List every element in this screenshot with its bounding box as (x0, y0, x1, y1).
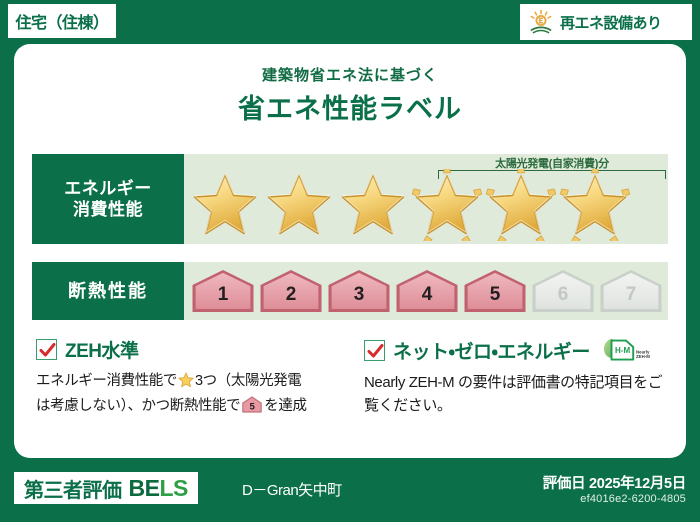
bels-wordmark-part1: BE (129, 475, 160, 501)
insulation-label-text: 断熱性能 (68, 280, 148, 303)
insulation-performance-row: 断熱性能 1234567 (32, 262, 668, 320)
insulation-level-number: 4 (394, 267, 460, 315)
house-type-label: 住宅（住棟） (15, 9, 108, 33)
criterion-zeh-head: ZEH水準 (36, 336, 328, 363)
footer-band: 第三者評価 BELS D－Gran矢中町 評価日 2025年12月5日 ef40… (0, 464, 700, 522)
star-icon-solar (484, 169, 558, 241)
criteria-section: ZEH水準 エネルギー消費性能で 3つ（太陽光発電 は考慮しない）、かつ断熱性能… (14, 336, 686, 422)
star-rating (184, 168, 668, 242)
zeh-desc-part2: 3つ（太陽光発電 (195, 373, 301, 389)
zeh-desc-part4: を達成 (264, 398, 306, 414)
energy-label-line2: 消費性能 (73, 199, 143, 220)
energy-performance-label: 住宅（住棟） 再エネ設備あり (0, 0, 700, 522)
insulation-level-badge: 5 (462, 267, 528, 315)
nearly-zeh-m-logo-icon: H-M Nearly ZEH-M (600, 336, 654, 364)
zeh-title: ZEH水準 (65, 336, 139, 363)
star-icon-solar (558, 169, 632, 241)
insulation-level-badge: 3 (326, 267, 392, 315)
insulation-level-badge: 2 (258, 267, 324, 315)
zeh-desc-part3: は考慮しない）、かつ断熱性能で (36, 398, 240, 414)
insulation-level-badge: 6 (530, 267, 596, 315)
inline-star-icon (178, 372, 194, 395)
energy-performance-body: 太陽光発電(自家消費)分 (184, 154, 668, 244)
insulation-level-badge: 1 (190, 267, 256, 315)
insulation-level-number: 6 (530, 267, 596, 315)
energy-performance-row: エネルギー 消費性能 太陽光発電(自家消費)分 (32, 154, 668, 244)
bels-wordmark: BELS (129, 475, 188, 502)
label-card: 建築物省エネ法に基づく 省エネ性能ラベル エネルギー 消費性能 太陽光発電(自家… (14, 44, 686, 458)
inline-level-badge: 5 (241, 395, 263, 421)
label-subtitle: 建築物省エネ法に基づく (14, 64, 686, 85)
zeh-description: エネルギー消費性能で 3つ（太陽光発電 は考慮しない）、かつ断熱性能で 5 を達… (36, 370, 328, 422)
nzeb-description: Nearly ZEH-M の要件は評価書の特記項目をご覧ください。 (364, 371, 664, 418)
zeh-check-icon (36, 339, 57, 360)
insulation-level-badge: 4 (394, 267, 460, 315)
zeh-desc-part1: エネルギー消費性能で (36, 373, 177, 389)
criterion-zeh: ZEH水準 エネルギー消費性能で 3つ（太陽光発電 は考慮しない）、かつ断熱性能… (14, 336, 350, 422)
star-icon (336, 169, 410, 241)
star-icon-solar (410, 169, 484, 241)
insulation-level-number: 3 (326, 267, 392, 315)
energy-label-line1: エネルギー (64, 178, 152, 199)
evaluation-id: ef4016e2-6200-4805 (580, 493, 686, 505)
bels-certification-chip: 第三者評価 BELS (14, 472, 198, 504)
insulation-performance-body: 1234567 (184, 262, 668, 320)
renewable-badge-label: 再エネ設備あり (560, 12, 662, 33)
svg-text:H-M: H-M (615, 346, 630, 355)
renewable-equipment-badge: 再エネ設備あり (520, 4, 692, 40)
star-icon (262, 169, 336, 241)
criterion-net-zero-energy: ネット・ゼロ・エネルギー H-M (350, 336, 686, 422)
nzeb-check-icon (364, 340, 385, 361)
nzeb-title: ネット・ゼロ・エネルギー (393, 337, 590, 364)
bels-wordmark-part2: LS (159, 475, 187, 501)
criterion-nzeb-head: ネット・ゼロ・エネルギー H-M (364, 336, 664, 364)
label-title: 省エネ性能ラベル (14, 87, 686, 126)
insulation-level-number: 7 (598, 267, 664, 315)
star-icon (188, 169, 262, 241)
insulation-level-number: 1 (190, 267, 256, 315)
insulation-level-number: 5 (462, 267, 528, 315)
insulation-performance-label: 断熱性能 (32, 262, 184, 320)
building-name: D－Gran矢中町 (242, 479, 342, 500)
house-type-chip: 住宅（住棟） (8, 4, 116, 38)
header-band: 住宅（住棟） 再エネ設備あり (0, 0, 700, 46)
insulation-level-scale: 1234567 (184, 262, 668, 320)
insulation-level-badge: 7 (598, 267, 664, 315)
evaluation-date: 評価日 2025年12月5日 (543, 472, 686, 493)
insulation-level-number: 2 (258, 267, 324, 315)
svg-text:ZEH-M: ZEH-M (636, 354, 650, 359)
energy-performance-label: エネルギー 消費性能 (32, 154, 184, 244)
solar-sun-icon (528, 9, 554, 35)
third-party-label: 第三者評価 (24, 474, 122, 503)
